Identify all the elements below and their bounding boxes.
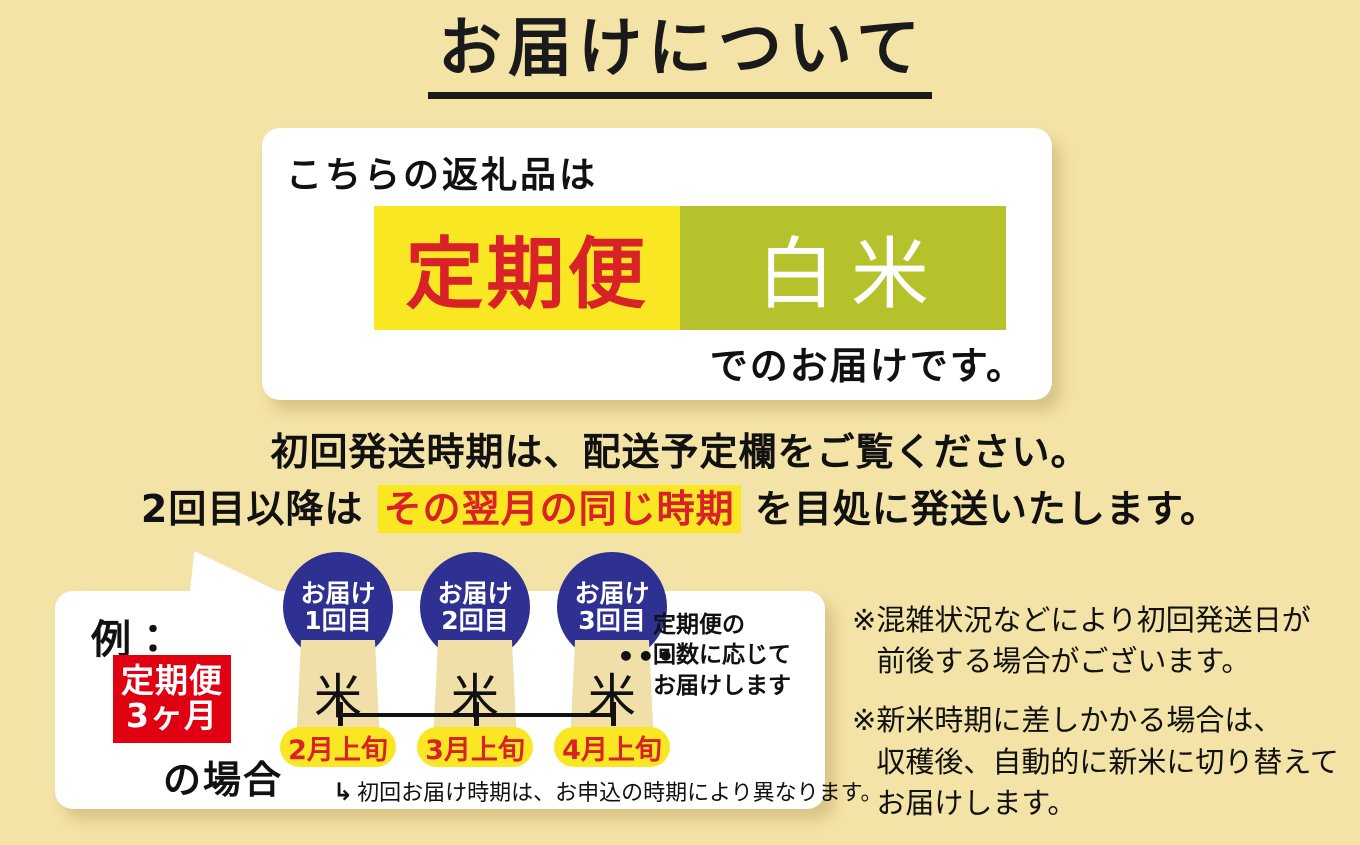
delivery-circle-3-line-1: お届け [574, 580, 649, 608]
note-1-line-2: 前後する場合がございます。 [876, 641, 1310, 682]
page-title: お届けについて [428, 14, 932, 99]
note-mark-icon-1: ※ [852, 600, 876, 682]
delivery-circle-2-line-1: お届け [437, 580, 512, 608]
delivery-circle-1-line-2: 1回目 [304, 607, 371, 635]
product-card-lead: こちらの返礼品は [286, 146, 598, 198]
date-pill-2: 3月上旬 [417, 727, 533, 767]
infographic-stage: お届けについて こちらの返礼品は 定期便 白米 でのお届けです。 初回発送時期は… [0, 0, 1360, 845]
delivery-circle-2-line-2: 2回目 [441, 607, 508, 635]
note-1-line-1: 混雑状況などにより初回発送日が [876, 600, 1310, 641]
delivery-circle-1-line-1: お届け [300, 580, 375, 608]
date-pill-row: 2月上旬 3月上旬 4月上旬 [283, 727, 703, 771]
example-footnote: ↳初回お届け時期は、お申込の時期により異なります。 [333, 775, 882, 807]
badge-subscription: 定期便 [374, 206, 680, 330]
note-2-line-1: 新米時期に差しかかる場合は、 [876, 700, 1339, 741]
statement-line-1: 初回発送時期は、配送予定欄をご覧ください。 [0, 424, 1360, 481]
footnote-arrow-icon: ↳ [333, 778, 353, 806]
note-body-1: 混雑状況などにより初回発送日が 前後する場合がございます。 [876, 600, 1310, 682]
product-card: こちらの返礼品は 定期便 白米 でのお届けです。 [262, 128, 1052, 400]
note-item-2: ※ 新米時期に差しかかる場合は、 収穫後、自動的に新米に切り替えて お届けします… [852, 700, 1332, 824]
footnote-text: 初回お届け時期は、お申込の時期により異なります。 [357, 781, 882, 806]
delivery-circle-3-line-2: 3回目 [578, 607, 645, 635]
plan-badge: 定期便 3ヶ月 [113, 655, 231, 743]
statement-line-2: 2回目以降は その翌月の同じ時期 を目処に発送いたします。 [0, 481, 1360, 538]
statement-line-2-prefix: 2回目以降は [141, 487, 363, 531]
ruler-tick-2 [474, 702, 479, 726]
statement-highlight: その翌月の同じ時期 [378, 485, 741, 533]
notes-column: ※ 混雑状況などにより初回発送日が 前後する場合がございます。 ※ 新米時期に差… [852, 600, 1332, 842]
date-pill-1: 2月上旬 [280, 727, 396, 767]
page-title-wrap: お届けについて [0, 14, 1360, 99]
badge-row: 定期便 白米 [374, 206, 1006, 330]
note-item-1: ※ 混雑状況などにより初回発送日が 前後する場合がございます。 [852, 600, 1332, 682]
date-pill-3: 4月上旬 [554, 727, 670, 767]
speech-bubble-tail [190, 551, 291, 595]
badge-rice-type: 白米 [680, 206, 1006, 330]
continuation-note-line-2: 回数に応じて [653, 640, 791, 670]
continuation-note: 定期便の 回数に応じて お届けします [653, 610, 791, 701]
plan-badge-line-1: 定期便 [121, 664, 223, 699]
example-case-text: の場合 [163, 749, 283, 804]
note-2-line-2: 収穫後、自動的に新米に切り替えて [876, 742, 1339, 783]
product-card-closing: でのお届けです。 [710, 335, 1026, 390]
ruler-tick-3 [611, 702, 616, 726]
ruler-tick-1 [338, 702, 343, 726]
continuation-note-line-1: 定期便の [653, 610, 791, 640]
statement-line-2-suffix: を目処に発送いたします。 [755, 487, 1219, 531]
statement-block: 初回発送時期は、配送予定欄をご覧ください。 2回目以降は その翌月の同じ時期 を… [0, 424, 1360, 538]
plan-badge-line-2: 3ヶ月 [126, 699, 218, 734]
interval-ruler [332, 702, 622, 726]
note-body-2: 新米時期に差しかかる場合は、 収穫後、自動的に新米に切り替えて お届けします。 [876, 700, 1339, 824]
note-2-line-3: お届けします。 [876, 783, 1339, 824]
continuation-note-line-3: お届けします [653, 671, 791, 701]
